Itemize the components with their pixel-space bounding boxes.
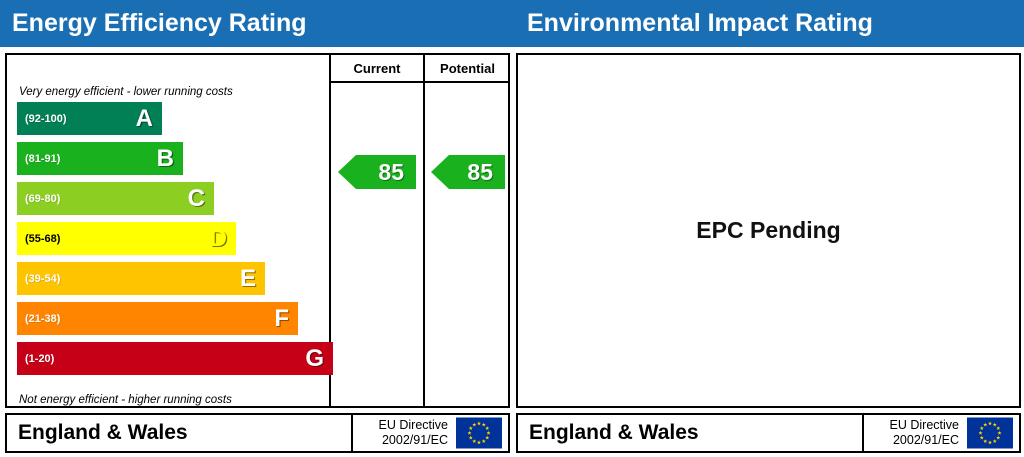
band-range-f: (21-38)	[25, 313, 60, 325]
footer-right-divider	[862, 415, 864, 451]
current-rating-value: 85	[378, 161, 404, 184]
footer-right-directive-line2: 2002/91/EC	[890, 433, 959, 448]
rating-band-b: (81-91)B	[17, 142, 183, 175]
epc-pending-status: EPC Pending	[518, 55, 1019, 406]
eu-flag-icon	[456, 418, 502, 449]
band-letter-c: C	[188, 187, 205, 211]
footer-left: England & Wales EU Directive 2002/91/EC	[5, 413, 510, 453]
current-rating-arrow: 85	[338, 155, 416, 189]
footer-right-region-label: England & Wales	[529, 421, 699, 445]
band-range-e: (39-54)	[25, 273, 60, 285]
environmental-impact-title: Environmental Impact Rating	[527, 9, 873, 38]
rating-band-c: (69-80)C	[17, 182, 214, 215]
rating-band-g: (1-20)G	[17, 342, 333, 375]
energy-efficiency-chart: Current Potential Very energy efficient …	[5, 53, 510, 408]
potential-rating-value: 85	[467, 161, 493, 184]
column-header-rule	[329, 81, 510, 83]
band-letter-b: B	[157, 147, 174, 171]
column-header-potential: Potential	[425, 59, 510, 79]
band-letter-g: G	[305, 347, 324, 371]
band-range-b: (81-91)	[25, 153, 60, 165]
rating-band-a: (92-100)A	[17, 102, 162, 135]
band-letter-a: A	[136, 107, 153, 131]
band-range-d: (55-68)	[25, 233, 60, 245]
band-range-a: (92-100)	[25, 113, 67, 125]
rating-band-f: (21-38)F	[17, 302, 298, 335]
footer-left-region-label: England & Wales	[18, 421, 188, 445]
caption-not-efficient: Not energy efficient - higher running co…	[19, 394, 232, 406]
band-letter-e: E	[240, 267, 256, 291]
environmental-impact-chart: EPC Pending	[516, 53, 1021, 408]
footer-right-directive-line1: EU Directive	[890, 418, 959, 433]
column-divider-potential	[423, 55, 425, 406]
column-header-current: Current	[331, 59, 423, 79]
caption-very-efficient: Very energy efficient - lower running co…	[19, 86, 233, 98]
band-range-c: (69-80)	[25, 193, 60, 205]
footer-left-directive-line1: EU Directive	[379, 418, 448, 433]
footer-left-directive: EU Directive 2002/91/EC	[379, 418, 448, 448]
band-letter-d: D	[210, 227, 227, 251]
band-range-g: (1-20)	[25, 353, 54, 365]
eu-flag-icon	[967, 418, 1013, 449]
band-letter-f: F	[274, 307, 289, 331]
rating-band-e: (39-54)E	[17, 262, 265, 295]
footer-left-divider	[351, 415, 353, 451]
rating-band-d: (55-68)D	[17, 222, 236, 255]
footer-right: England & Wales EU Directive 2002/91/EC	[516, 413, 1021, 453]
energy-efficiency-title: Energy Efficiency Rating	[12, 9, 307, 38]
potential-rating-arrow: 85	[431, 155, 505, 189]
epc-certificate: Energy Efficiency Rating Environmental I…	[0, 0, 1024, 457]
footer-right-directive: EU Directive 2002/91/EC	[890, 418, 959, 448]
footer-left-directive-line2: 2002/91/EC	[379, 433, 448, 448]
